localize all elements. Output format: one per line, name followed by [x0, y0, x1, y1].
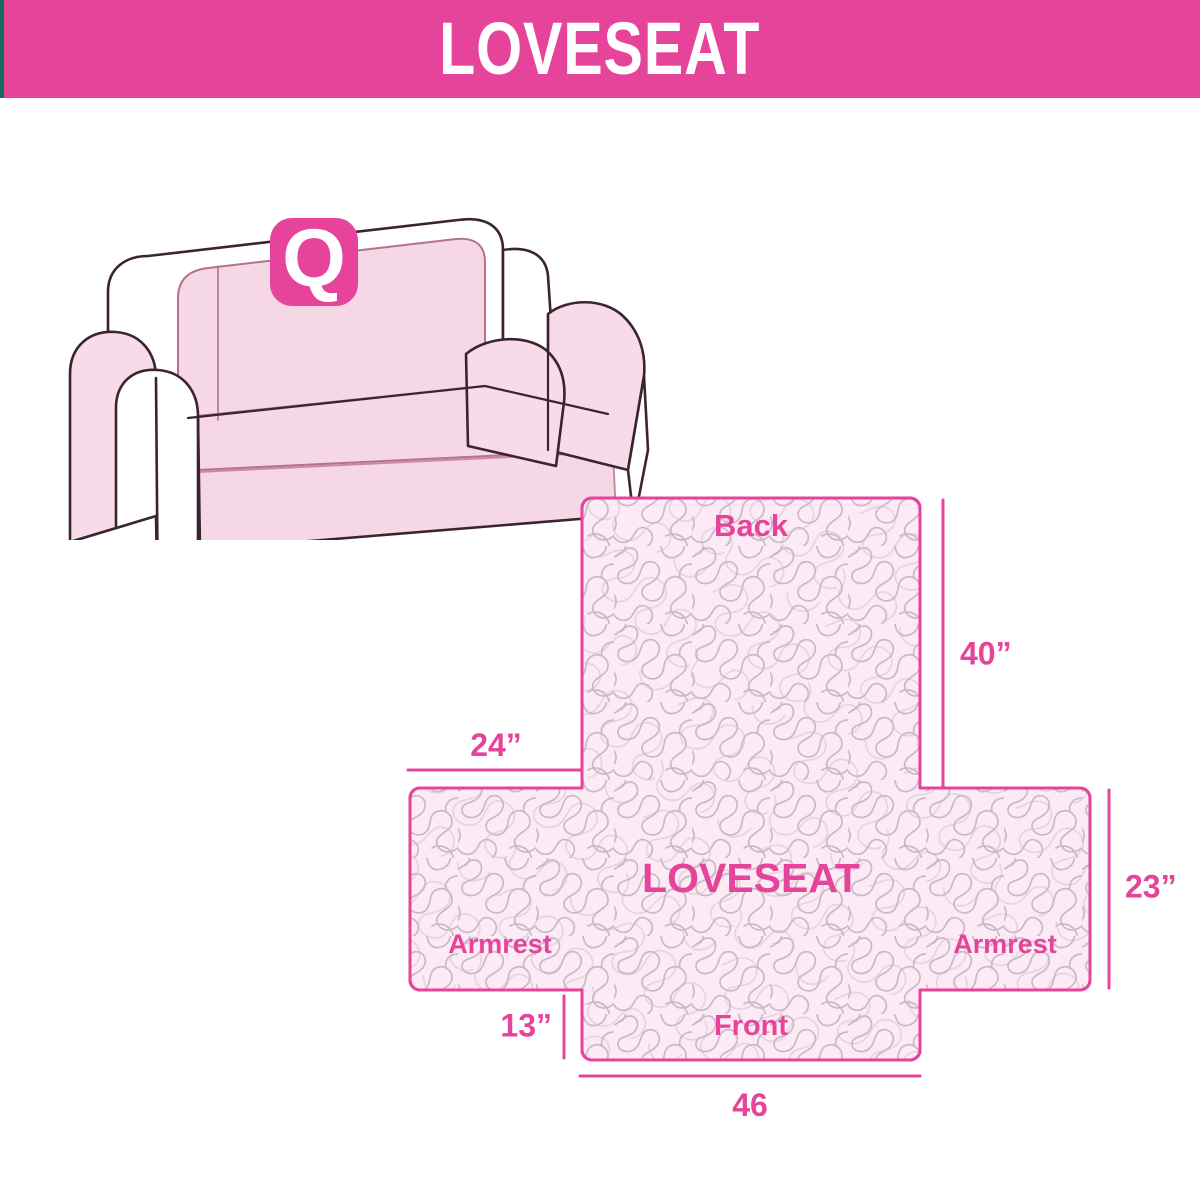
dimension-armrest-top: 24” [408, 727, 580, 770]
page-title: LOVESEAT [439, 12, 760, 86]
slipcover-diagram-svg: Back LOVESEAT Armrest Armrest Front 40” … [380, 468, 1190, 1148]
product-dimension-diagram-page: LOVESEAT [0, 0, 1200, 1200]
dimension-front-height: 13” [500, 996, 564, 1058]
brand-logo-letter: Q [282, 213, 346, 304]
slipcover-diagram: Back LOVESEAT Armrest Armrest Front 40” … [380, 468, 1190, 1148]
dimension-back-height: 40” [943, 500, 1012, 786]
brand-logo: Q [270, 213, 358, 306]
dimension-armrest-height: 23” [1109, 790, 1177, 988]
dimension-front-width: 46 [580, 1076, 920, 1123]
dimension-back-height-value: 40” [960, 635, 1012, 671]
slipcover-cross-texture-overlay [410, 498, 1090, 1060]
panel-label-armrest-right: Armrest [953, 929, 1057, 959]
dimension-front-width-value: 46 [732, 1087, 768, 1123]
sofa-right-arm-inner [466, 339, 564, 466]
header-left-edge-accent [0, 0, 4, 98]
dimension-armrest-top-value: 24” [470, 727, 522, 763]
panel-label-front: Front [714, 1010, 788, 1042]
page-header-banner: LOVESEAT [0, 0, 1200, 98]
panel-label-armrest-left: Armrest [448, 929, 552, 959]
dimension-armrest-height-value: 23” [1125, 868, 1177, 904]
dimension-front-height-value: 13” [500, 1007, 552, 1043]
slipcover-shape-group [410, 498, 1090, 1060]
diagram-center-label: LOVESEAT [642, 855, 860, 901]
panel-label-back: Back [714, 508, 789, 543]
